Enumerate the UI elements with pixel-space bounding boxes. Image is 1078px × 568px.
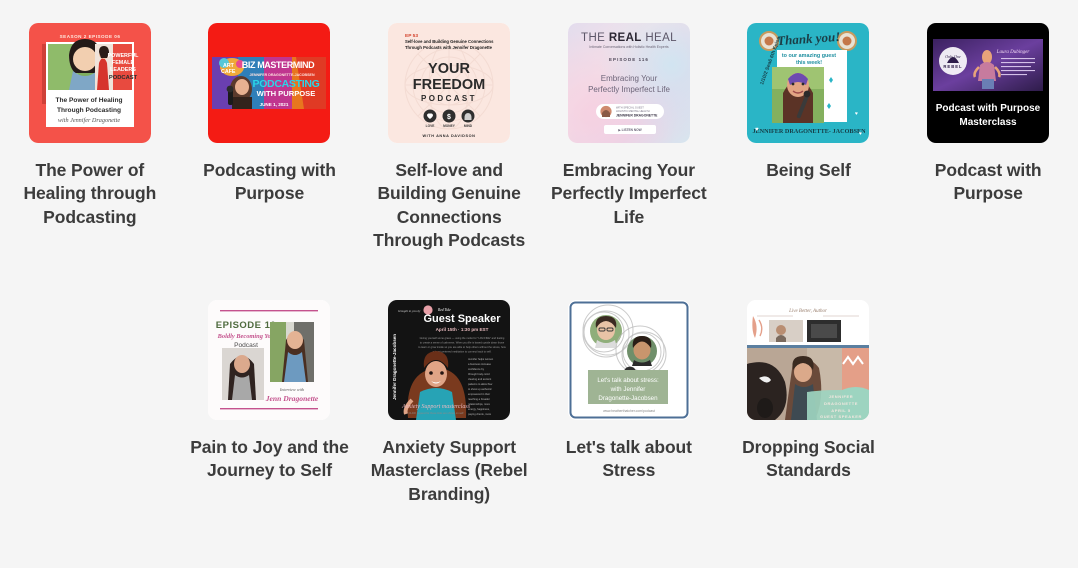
svg-text:Jenn Dragonette: Jenn Dragonette bbox=[265, 394, 319, 403]
svg-text:Through Podcasts with Jennifer: Through Podcasts with Jennifer Dragonett… bbox=[405, 45, 493, 50]
svg-text:CLICK request for these links: CLICK request for these links are shown … bbox=[409, 411, 464, 415]
svg-text:JENNIFER DRAGONETTE-JACOBSEN: JENNIFER DRAGONETTE-JACOBSEN bbox=[250, 73, 315, 77]
thumbnail-dropping-social-standards[interactable]: Live Better, Author bbox=[747, 300, 869, 420]
svg-text:through body-mind: through body-mind bbox=[468, 372, 490, 376]
masterclass-artwork: Only One REBEL Laura Dubinger bbox=[927, 23, 1049, 143]
gallery-item[interactable]: brought to you by Red Tide Guest Speaker… bbox=[359, 300, 539, 568]
thumbnail-pain-to-joy[interactable]: EPISODE 10 Boldly Becoming You Podcast bbox=[208, 300, 330, 420]
thumbnail-lets-talk-about-stress[interactable]: ∞ Let's talk about stress: with Jennifer… bbox=[568, 300, 690, 420]
svg-text:BIZ MASTERMIND: BIZ MASTERMIND bbox=[242, 60, 315, 70]
svg-text:♥: ♥ bbox=[755, 127, 759, 133]
svg-text:Masterclass: Masterclass bbox=[960, 117, 1018, 128]
lets-talk-about-stress-artwork: ∞ Let's talk about stress: with Jennifer… bbox=[568, 300, 690, 420]
svg-text:Self-love and Building Genuine: Self-love and Building Genuine Connectio… bbox=[405, 39, 494, 44]
gallery-item[interactable]: Only One REBEL Laura Dubinger bbox=[898, 0, 1078, 300]
gallery-item-caption: Being Self bbox=[728, 159, 888, 182]
svg-text:Jennifer Dragonette-Jacobsen: Jennifer Dragonette-Jacobsen bbox=[392, 334, 397, 400]
svg-text:WITH PURPOSE: WITH PURPOSE bbox=[257, 89, 316, 98]
svg-text:JENNIFER DRAGONETTE- JACOBSEN: JENNIFER DRAGONETTE- JACOBSEN bbox=[753, 128, 867, 135]
svg-text:Podcast with Purpose: Podcast with Purpose bbox=[936, 103, 1041, 114]
svg-text:Let's talk about stress:: Let's talk about stress: bbox=[597, 377, 659, 384]
svg-text:JENNIFER DRAGONETTE: JENNIFER DRAGONETTE bbox=[616, 114, 658, 118]
svg-text:to learn or grow inside so you: to learn or grow inside so you are able … bbox=[418, 345, 506, 349]
gallery-item[interactable]: Live Better, Author bbox=[719, 300, 899, 568]
svg-text:WITH SPECIAL GUEST: WITH SPECIAL GUEST bbox=[616, 106, 644, 110]
svg-text:The Power of Healing: The Power of Healing bbox=[55, 97, 122, 104]
svg-text:paying clients, more: paying clients, more bbox=[468, 412, 492, 416]
dropping-social-standards-artwork: Live Better, Author bbox=[747, 300, 869, 420]
svg-text:JUNE 1, 2021: JUNE 1, 2021 bbox=[260, 102, 289, 107]
svg-text:Perfectly Imperfect Life: Perfectly Imperfect Life bbox=[588, 85, 670, 94]
svg-text:Laura Dubinger: Laura Dubinger bbox=[996, 50, 1030, 55]
svg-text:MONEY: MONEY bbox=[443, 124, 456, 128]
svg-text:POWERFUL: POWERFUL bbox=[107, 53, 139, 59]
gallery-item[interactable]: EP 53 Self-love and Building Genuine Con… bbox=[359, 0, 539, 300]
svg-text:HOLISTIC MENTAL HEALTH: HOLISTIC MENTAL HEALTH bbox=[616, 109, 650, 113]
svg-text:EPISODE 116: EPISODE 116 bbox=[609, 57, 649, 62]
gallery-item-caption: Embracing Your Perfectly Imperfect Life bbox=[549, 159, 709, 229]
gallery-item-caption: The Power of Healing through Podcasting bbox=[10, 159, 170, 229]
thumbnail-podcasting-with-purpose[interactable]: ART CAFE BIZ MASTERMIND JENNIFER DRAGONE… bbox=[208, 23, 330, 143]
svg-text:www.heatherthatcher.com/podcas: www.heatherthatcher.com/podcast bbox=[603, 409, 655, 413]
svg-text:Red Tide: Red Tide bbox=[437, 308, 451, 312]
svg-text:♥: ♥ bbox=[855, 111, 858, 117]
svg-text:confidence by: confidence by bbox=[468, 367, 485, 371]
svg-text:Dragonette-Jacobsen: Dragonette-Jacobsen bbox=[598, 395, 658, 402]
thumbnail-the-real-heal[interactable]: THE REAL HEAL Intimate Conversations wit… bbox=[568, 23, 690, 143]
thank-you-guest-artwork: Thank you! to our amazing guest this wee… bbox=[747, 23, 869, 143]
svg-text:empowered in their: empowered in their bbox=[468, 392, 490, 396]
svg-text:MIND: MIND bbox=[464, 124, 473, 128]
svg-text:to show up authentic: to show up authentic bbox=[468, 387, 492, 391]
svg-text:Boldly Becoming You: Boldly Becoming You bbox=[217, 333, 275, 340]
gallery-item-caption: Anxiety Support Masterclass (Rebel Brand… bbox=[369, 436, 529, 506]
svg-text:this week!: this week! bbox=[796, 60, 822, 66]
gallery-item-caption: Self-love and Building Genuine Connectio… bbox=[369, 159, 529, 252]
svg-text:reaching a broader: reaching a broader bbox=[468, 397, 490, 401]
gallery-item[interactable]: ART CAFE BIZ MASTERMIND JENNIFER DRAGONE… bbox=[180, 0, 360, 300]
thumbnail-being-self[interactable]: Thank you! to our amazing guest this wee… bbox=[747, 23, 869, 143]
svg-text:APRIL 5: APRIL 5 bbox=[832, 408, 852, 413]
gallery-item-caption: Dropping Social Standards bbox=[728, 436, 888, 483]
svg-text:Live Better, Author: Live Better, Author bbox=[789, 309, 828, 314]
svg-text:Embracing Your: Embracing Your bbox=[601, 74, 658, 83]
svg-text:brought to you by: brought to you by bbox=[398, 309, 421, 313]
gallery-item-caption: Let's talk about Stress bbox=[549, 436, 709, 483]
podcasting-with-purpose-artwork: ART CAFE BIZ MASTERMIND JENNIFER DRAGONE… bbox=[208, 23, 330, 143]
svg-text:Anxiety Support masterclass: Anxiety Support masterclass bbox=[401, 404, 471, 410]
svg-text:PODCAST: PODCAST bbox=[421, 94, 477, 103]
gallery-row-1: SEASON 2 EPISODE 06 POWERFUL FEM bbox=[0, 0, 1078, 300]
thumbnail-anxiety-support-masterclass[interactable]: brought to you by Red Tide Guest Speaker… bbox=[388, 300, 510, 420]
gallery-item-caption: Pain to Joy and the Journey to Self bbox=[189, 436, 349, 483]
svg-text:a business increase: a business increase bbox=[468, 362, 491, 366]
gallery-item[interactable]: EPISODE 10 Boldly Becoming You Podcast bbox=[180, 300, 360, 568]
gallery-item[interactable]: THE REAL HEAL Intimate Conversations wit… bbox=[539, 0, 719, 300]
svg-text:Guest Speaker: Guest Speaker bbox=[424, 313, 502, 325]
svg-text:with Jennifer: with Jennifer bbox=[609, 386, 645, 393]
svg-text:patterns to allow flow: patterns to allow flow bbox=[468, 382, 492, 386]
svg-text:WITH ANNA DAVIDSON: WITH ANNA DAVIDSON bbox=[423, 134, 476, 138]
boldly-becoming-you-artwork: EPISODE 10 Boldly Becoming You Podcast bbox=[208, 300, 330, 420]
svg-text:relationships, more: relationships, more bbox=[468, 402, 490, 406]
gallery-item[interactable]: ∞ Let's talk about stress: with Jennifer… bbox=[539, 300, 719, 568]
svg-text:FREEDOM: FREEDOM bbox=[413, 77, 486, 93]
svg-text:REBEL: REBEL bbox=[944, 64, 963, 69]
svg-text:April 15th · 1:30 pm EST: April 15th · 1:30 pm EST bbox=[436, 327, 489, 332]
svg-text:Through Podcasting: Through Podcasting bbox=[57, 107, 121, 114]
svg-text:$: $ bbox=[447, 114, 451, 121]
svg-text:Podcast: Podcast bbox=[235, 342, 259, 349]
your-freedom-podcast-artwork: EP 53 Self-love and Building Genuine Con… bbox=[388, 23, 510, 143]
svg-text:Interview with: Interview with bbox=[279, 387, 304, 392]
svg-text:GUEST SPEAKER: GUEST SPEAKER bbox=[820, 414, 862, 419]
svg-text:Only One: Only One bbox=[945, 54, 961, 59]
anxiety-masterclass-artwork: brought to you by Red Tide Guest Speaker… bbox=[388, 300, 510, 420]
svg-text:PODCAST: PODCAST bbox=[109, 75, 138, 81]
svg-text:LEADERS: LEADERS bbox=[110, 67, 136, 73]
power-of-healing-artwork: SEASON 2 EPISODE 06 POWERFUL FEM bbox=[29, 23, 151, 143]
svg-text:to create a sense of calmness.: to create a sense of calmness. When you … bbox=[420, 341, 505, 345]
svg-text:SEASON 2 EPISODE 06: SEASON 2 EPISODE 06 bbox=[59, 34, 120, 39]
svg-text:JENNIFER: JENNIFER bbox=[829, 394, 854, 399]
svg-text:THE REAL HEAL: THE REAL HEAL bbox=[581, 32, 677, 44]
svg-text:energy, happiness,: energy, happiness, bbox=[468, 407, 490, 411]
gallery-item[interactable]: Thank you! to our amazing guest this wee… bbox=[719, 0, 899, 300]
svg-text:FEMALE: FEMALE bbox=[112, 60, 135, 66]
svg-text:Giving yourself some grace — u: Giving yourself some grace — using the m… bbox=[420, 336, 505, 340]
gallery-item-caption: Podcast with Purpose bbox=[908, 159, 1068, 206]
thumbnail-power-of-healing[interactable]: SEASON 2 EPISODE 06 POWERFUL FEM bbox=[29, 23, 151, 143]
svg-text:to our amazing guest: to our amazing guest bbox=[782, 53, 836, 59]
svg-text:DRAGONETTE: DRAGONETTE bbox=[824, 401, 858, 406]
svg-text:clearing and ancient: clearing and ancient bbox=[468, 377, 491, 381]
svg-text:YOUR: YOUR bbox=[428, 61, 470, 77]
svg-text:Jennifer helps women: Jennifer helps women bbox=[468, 357, 494, 361]
svg-text:EPISODE 10: EPISODE 10 bbox=[216, 320, 276, 331]
svg-text:Intimate Conversations with Ho: Intimate Conversations with Holistic Hea… bbox=[589, 45, 668, 49]
svg-text:CAFE: CAFE bbox=[221, 69, 236, 75]
svg-text:with Jennifer Dragonette: with Jennifer Dragonette bbox=[58, 117, 120, 124]
thumbnail-podcast-with-purpose-masterclass[interactable]: Only One REBEL Laura Dubinger bbox=[927, 23, 1049, 143]
gallery-item-caption: Podcasting with Purpose bbox=[189, 159, 349, 206]
thumbnail-your-freedom-podcast[interactable]: EP 53 Self-love and Building Genuine Con… bbox=[388, 23, 510, 143]
svg-text:♥: ♥ bbox=[859, 131, 862, 137]
gallery-row-2: EPISODE 10 Boldly Becoming You Podcast bbox=[0, 300, 1078, 568]
gallery-item[interactable]: SEASON 2 EPISODE 06 POWERFUL FEM bbox=[0, 0, 180, 300]
the-real-heal-artwork: THE REAL HEAL Intimate Conversations wit… bbox=[568, 23, 690, 143]
svg-text:LOVE: LOVE bbox=[426, 124, 435, 128]
svg-text:▶ LISTEN NOW: ▶ LISTEN NOW bbox=[617, 128, 641, 132]
